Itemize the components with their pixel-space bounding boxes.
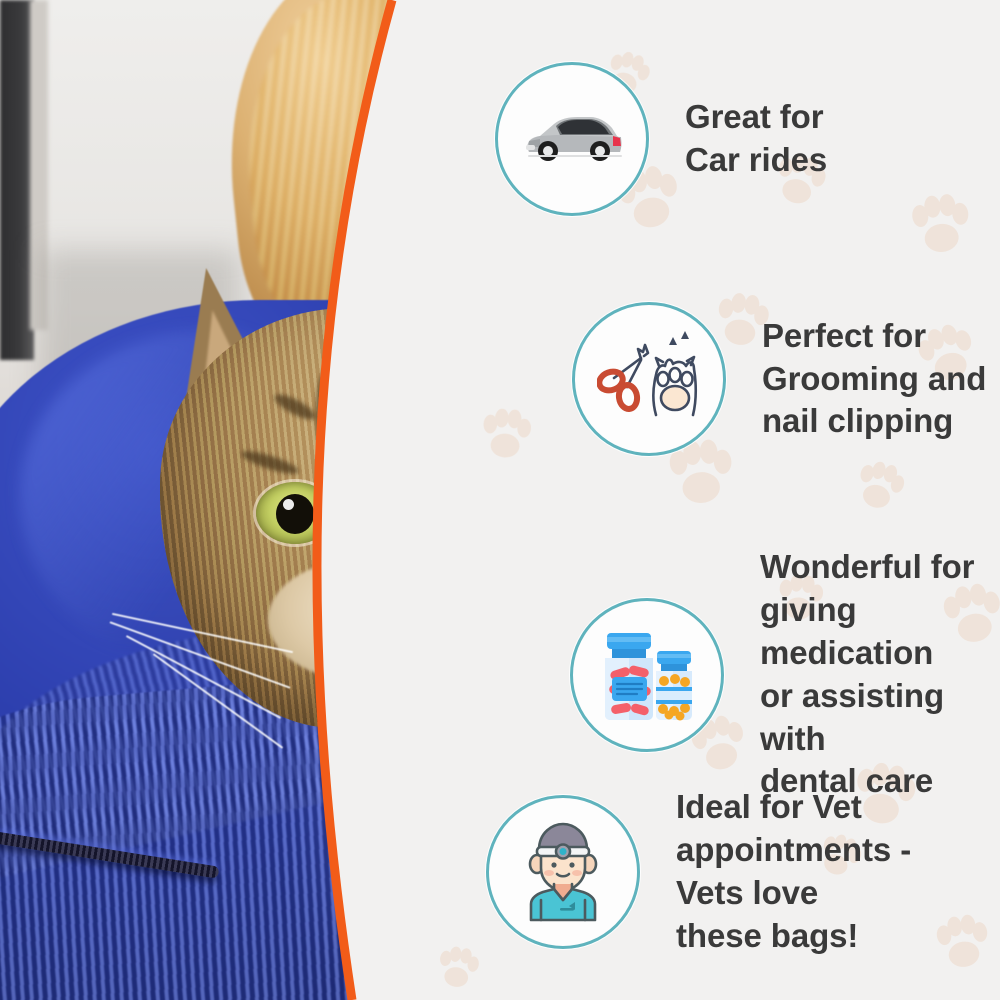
pill-bottles-icon [593, 625, 701, 725]
feature-list: Great for Car rides [0, 0, 1000, 1000]
car-icon [520, 105, 624, 173]
feature-label: Ideal for Vet appointments - Vets love t… [676, 786, 911, 958]
product-feature-graphic: Great for Car rides [0, 0, 1000, 1000]
feature-icon-circle [495, 62, 649, 216]
veterinarian-icon [513, 820, 613, 924]
feature-icon-circle [570, 598, 724, 752]
nail-clippers-paw-icon [597, 331, 701, 427]
feature-label: Wonderful for giving medication or assis… [760, 546, 1000, 803]
feature-icon-circle [572, 302, 726, 456]
feature-medication[interactable]: Wonderful for giving medication or assis… [570, 546, 1000, 803]
feature-label: Great for Car rides [685, 96, 827, 182]
feature-label: Perfect for Grooming and nail clipping [762, 315, 986, 444]
feature-vet-appointments[interactable]: Ideal for Vet appointments - Vets love t… [486, 786, 911, 958]
feature-car-rides[interactable]: Great for Car rides [495, 62, 827, 216]
feature-grooming[interactable]: Perfect for Grooming and nail clipping [572, 302, 986, 456]
feature-icon-circle [486, 795, 640, 949]
